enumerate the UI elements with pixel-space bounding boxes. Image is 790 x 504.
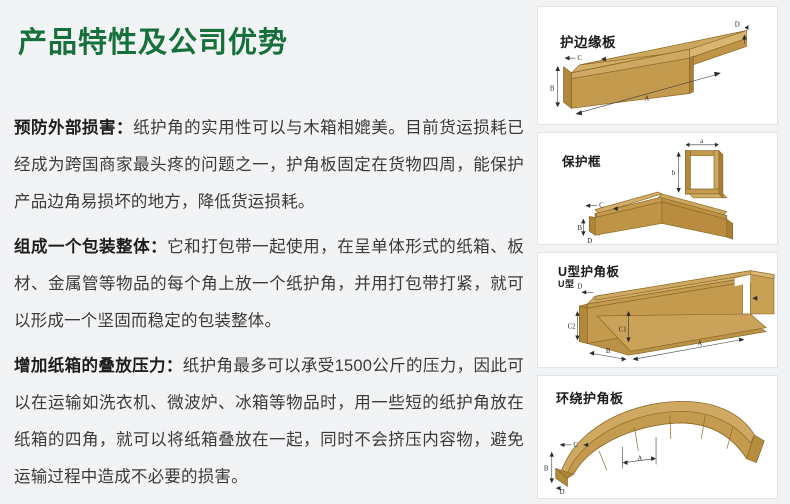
- diagram-panel-u-channel: U型护角板 U型: [537, 252, 778, 368]
- feature-paragraph-1: 预防外部损害：纸护角的实用性可以与木箱相媲美。目前货运损耗已经成为跨国商家最头疼…: [14, 110, 524, 221]
- dim-label-frame-C: C: [599, 203, 604, 210]
- dim-label-u-A: A: [697, 340, 702, 347]
- edge-board-illustration: B C D A: [538, 7, 778, 124]
- diagram-subtitle-u-channel: U型: [558, 277, 575, 290]
- body-copy: 预防外部损害：纸护角的实用性可以与木箱相媲美。目前货运损耗已经成为跨国商家最头疼…: [14, 110, 524, 504]
- diagram-title-wrap-around: 环绕护角板: [556, 388, 624, 407]
- paragraph-text-3: 纸护角最多可以承受1500公斤的压力，因此可以在运输如洗衣机、微波炉、冰箱等物品…: [14, 357, 524, 486]
- protective-frame-illustration: a b B: [538, 133, 778, 244]
- diagram-title-edge-board: 护边缘板: [560, 31, 616, 51]
- dim-label-frame-D: D: [587, 238, 592, 244]
- diagram-panel-edge-board: 护边缘板 B: [537, 6, 778, 125]
- dim-label-frame-B: B: [577, 225, 582, 232]
- dim-label-frame-top: a: [700, 138, 703, 145]
- paragraph-lead-2: 组成一个包装整体：: [14, 238, 167, 256]
- arc-highlight: [562, 401, 755, 472]
- diagram-panel-protective-frame: 保护框 a b: [537, 132, 778, 245]
- dim-label-wrap-A: A: [637, 456, 642, 463]
- dim-label-u-D: D: [577, 283, 582, 290]
- paragraph-lead-3: 增加纸箱的叠放压力：: [14, 357, 183, 375]
- dim-label-wrap-C: C: [573, 442, 578, 449]
- feature-paragraph-2: 组成一个包装整体：它和打包带一起使用，在呈单体形式的纸箱、板材、金属管等物品的每…: [14, 229, 524, 340]
- diagram-column: 护边缘板 B: [537, 6, 778, 493]
- diagram-panel-wrap-around: 环绕护角板: [537, 375, 778, 499]
- dim-label-B: B: [550, 86, 555, 93]
- dim-label-wrap-B: B: [544, 465, 549, 472]
- product-feature-banner: 产品特性及公司优势 预防外部损害：纸护角的实用性可以与木箱相媲美。目前货运损耗已…: [0, 0, 790, 497]
- feature-paragraph-3: 增加纸箱的叠放压力：纸护角最多可以承受1500公斤的压力，因此可以在运输如洗衣机…: [14, 348, 524, 496]
- dim-label-frame-left: b: [672, 170, 676, 177]
- dim-label-A: A: [644, 95, 649, 102]
- text-column: 产品特性及公司优势 预防外部损害：纸护角的实用性可以与木箱相媲美。目前货运损耗已…: [0, 0, 532, 497]
- page-title: 产品特性及公司优势: [18, 26, 288, 61]
- dim-label-C: C: [577, 55, 582, 62]
- diagram-title-protective-frame: 保护框: [562, 151, 601, 170]
- dim-label-u-B: B: [606, 348, 611, 355]
- paragraph-lead-1: 预防外部损害：: [14, 119, 133, 137]
- dim-label-C2: C2: [568, 324, 577, 331]
- dim-label-C1: C1: [619, 327, 628, 334]
- dim-label-D: D: [735, 22, 740, 29]
